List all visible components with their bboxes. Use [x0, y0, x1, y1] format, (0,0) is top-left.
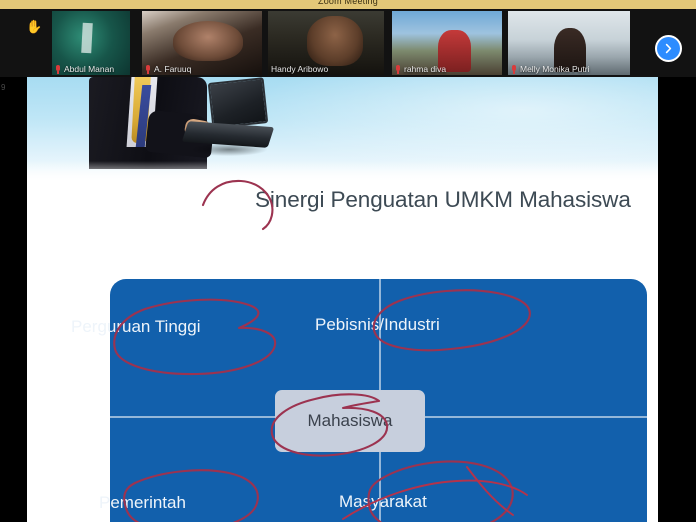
participant-name: Melly Monika Putri — [520, 64, 589, 74]
quadrant-label-pebisnis-industri: Pebisnis/Industri — [315, 315, 440, 335]
banner-fade — [27, 161, 658, 187]
participant-tile-active[interactable]: Handy Aribowo — [268, 11, 384, 75]
meeting-titlebar: Zoom Meeting — [0, 0, 696, 9]
edge-glyph: 9 — [1, 83, 5, 92]
participant-name: Abdul Manan — [64, 64, 114, 74]
center-node-mahasiswa: Mahasiswa — [275, 390, 425, 452]
participant-nameplate: Melly Monika Putri — [508, 64, 589, 74]
raise-hand-icon: ✋ — [26, 19, 40, 35]
mic-muted-icon — [395, 65, 401, 74]
next-participants-button[interactable] — [655, 35, 682, 62]
laptop-shadow — [191, 143, 267, 156]
participant-tile[interactable]: Melly Monika Putri — [508, 11, 630, 75]
participant-tile[interactable]: Abdul Manan — [52, 11, 130, 75]
zoom-meeting-window: Zoom Meeting ✋ Abdul Manan A. Faruuq Han… — [0, 0, 696, 522]
participant-name: rahma diva — [404, 64, 446, 74]
laptop-screen-icon — [208, 77, 269, 129]
shared-screen-stage[interactable]: 9 Sinergi Penguatan UMK — [0, 77, 696, 522]
participant-name: Handy Aribowo — [271, 64, 328, 74]
participant-name: A. Faruuq — [154, 64, 191, 74]
mic-muted-icon — [55, 65, 61, 74]
quadrant-label-masyarakat: Masyarakat — [339, 492, 427, 512]
chevron-right-icon — [663, 43, 674, 54]
participant-nameplate: Abdul Manan — [52, 64, 114, 74]
mic-muted-icon — [145, 65, 151, 74]
slide-title: Sinergi Penguatan UMKM Mahasiswa — [255, 187, 631, 213]
slide-banner-photo — [27, 77, 658, 187]
quadrant-label-perguruan-tinggi: Perguruan Tinggi — [71, 317, 200, 337]
participant-nameplate: rahma diva — [392, 64, 446, 74]
meeting-title-text: Zoom Meeting — [0, 0, 696, 6]
participant-nameplate: Handy Aribowo — [268, 64, 328, 74]
mic-muted-icon — [511, 65, 517, 74]
participant-nameplate: A. Faruuq — [142, 64, 191, 74]
presentation-slide: Sinergi Penguatan UMKM Mahasiswa Perguru… — [27, 77, 658, 522]
center-node-label: Mahasiswa — [307, 411, 392, 431]
participant-tile[interactable]: rahma diva — [392, 11, 502, 75]
participant-filmstrip[interactable]: ✋ Abdul Manan A. Faruuq Handy Aribowo — [0, 9, 696, 77]
quadrant-label-pemerintah: Pemerintah — [99, 493, 186, 513]
participant-tile[interactable]: A. Faruuq — [142, 11, 262, 75]
